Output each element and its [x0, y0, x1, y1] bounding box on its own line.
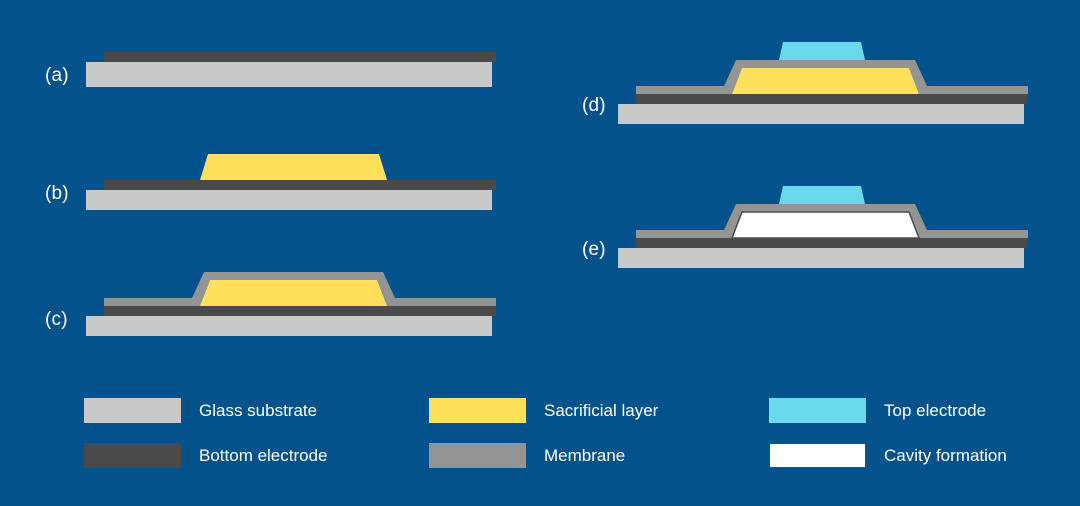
legend-label: Sacrificial layer	[544, 402, 658, 419]
bottom-electrode-layer	[104, 52, 496, 62]
bottom-electrode-swatch	[84, 443, 181, 468]
legend-label: Bottom electrode	[199, 447, 328, 464]
glass-substrate-layer	[86, 190, 492, 210]
bottom-electrode-layer	[104, 306, 496, 316]
bottom-electrode-layer	[636, 238, 1028, 248]
legend-item-glass-substrate: Glass substrate	[84, 398, 429, 423]
panel-label-e: (e)	[582, 240, 606, 259]
legend-item-cavity-formation: Cavity formation	[769, 443, 1069, 468]
sacrificial-layer-swatch	[429, 398, 526, 423]
legend-item-bottom-electrode: Bottom electrode	[84, 443, 429, 468]
panel-b-diagram	[86, 148, 496, 210]
legend-label: Top electrode	[884, 402, 986, 419]
panel-label-d: (d)	[582, 96, 606, 115]
top-electrode-swatch	[769, 398, 866, 423]
panel-c-diagram	[86, 266, 496, 336]
process-flow-figure: (a) (b) (c) (d)	[0, 0, 1080, 506]
legend-row-top: Glass substrate Sacrificial layer Top el…	[84, 388, 1080, 433]
legend-label: Cavity formation	[884, 447, 1007, 464]
legend-item-sacrificial-layer: Sacrificial layer	[429, 398, 769, 423]
panel-d-diagram	[618, 38, 1028, 124]
legend-item-top-electrode: Top electrode	[769, 398, 1069, 423]
legend: Glass substrate Sacrificial layer Top el…	[84, 388, 1080, 478]
glass-substrate-layer	[86, 316, 492, 336]
panel-label-a: (a)	[45, 66, 69, 85]
legend-label: Membrane	[544, 447, 625, 464]
panel-label-b: (b)	[45, 184, 69, 203]
legend-item-membrane: Membrane	[429, 443, 769, 468]
legend-label: Glass substrate	[199, 402, 317, 419]
cavity-formation-layer	[732, 212, 919, 238]
membrane-swatch	[429, 443, 526, 468]
bottom-electrode-layer	[104, 180, 496, 190]
top-electrode-layer	[779, 42, 865, 60]
sacrificial-layer-layer	[732, 68, 919, 94]
panel-e-diagram	[618, 182, 1028, 268]
top-electrode-layer	[779, 186, 865, 204]
panel-label-c: (c)	[45, 310, 68, 329]
glass-substrate-swatch	[84, 398, 181, 423]
glass-substrate-layer	[618, 248, 1024, 268]
bottom-electrode-layer	[636, 94, 1028, 104]
sacrificial-layer-layer	[200, 280, 387, 306]
panel-a-diagram	[86, 52, 496, 92]
glass-substrate-layer	[618, 104, 1024, 124]
legend-row-bottom: Bottom electrode Membrane Cavity formati…	[84, 433, 1080, 478]
glass-substrate-layer	[86, 62, 492, 87]
sacrificial-layer-layer	[200, 154, 387, 180]
cavity-formation-swatch	[769, 443, 866, 468]
